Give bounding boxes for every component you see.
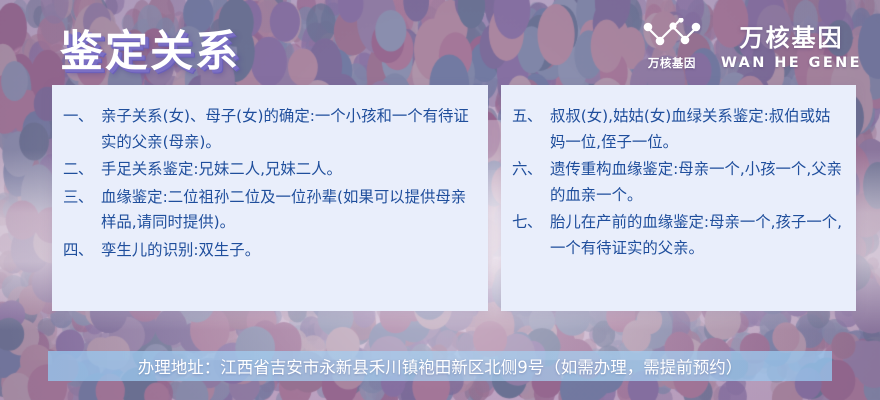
list-item-text: 亲子关系(女)、母子(女)的确定:一个小孩和一个有待证实的父亲(母亲)。 [101, 104, 477, 155]
poster-canvas: 鉴定关系 [0, 0, 880, 400]
list-item-number: 四、 [63, 238, 101, 264]
brand-name-cn: 万核基因 [739, 18, 843, 53]
list-item-number: 三、 [63, 185, 101, 236]
list-item-number: 二、 [63, 157, 101, 183]
list-item-text: 叔叔(女),姑姑(女)血绿关系鉴定:叔伯或姑妈一位,侄子一位。 [550, 104, 845, 155]
brand-text: 万核基因 WAN HE GENE [721, 18, 862, 71]
panel-right: 五、 叔叔(女),姑姑(女)血绿关系鉴定:叔伯或姑妈一位,侄子一位。 六、 遗传… [501, 85, 856, 311]
list-item: 四、 孪生儿的识别:双生子。 [63, 238, 477, 264]
address-bar: 办理地址：江西省吉安市永新县禾川镇袍田新区北侧9号（如需办理，需提前预约） [48, 351, 832, 381]
list-item-text: 遗传重构血缘鉴定:母亲一个,小孩一个,父亲的血亲一个。 [550, 157, 845, 208]
list-item-text: 孪生儿的识别:双生子。 [101, 238, 477, 264]
address-text: 办理地址：江西省吉安市永新县禾川镇袍田新区北侧9号（如需办理，需提前预约） [138, 354, 743, 378]
list-item: 三、 血缘鉴定:二位祖孙二位及一位孙辈(如果可以提供母亲样品,请同时提供)。 [63, 185, 477, 236]
page-title: 鉴定关系 [60, 17, 240, 79]
info-panels: 一、 亲子关系(女)、母子(女)的确定:一个小孩和一个有待证实的父亲(母亲)。 … [52, 85, 856, 311]
list-item-number: 七、 [512, 210, 550, 261]
brand-mark: 万核基因 [636, 19, 708, 71]
list-item: 五、 叔叔(女),姑姑(女)血绿关系鉴定:叔伯或姑妈一位,侄子一位。 [512, 104, 845, 155]
brand-mark-caption: 万核基因 [636, 55, 708, 71]
list-item-number: 五、 [512, 104, 550, 155]
panel-left: 一、 亲子关系(女)、母子(女)的确定:一个小孩和一个有待证实的父亲(母亲)。 … [52, 85, 488, 311]
list-item-text: 胎儿在产前的血缘鉴定:母亲一个,孩子一个,一个有待证实的父亲。 [550, 210, 845, 261]
list-item: 六、 遗传重构血缘鉴定:母亲一个,小孩一个,父亲的血亲一个。 [512, 157, 845, 208]
brand-name-en: WAN HE GENE [721, 55, 862, 71]
list-item-number: 一、 [63, 104, 101, 155]
list-item: 二、 手足关系鉴定:兄妹二人,兄妹二人。 [63, 157, 477, 183]
list-item-text: 手足关系鉴定:兄妹二人,兄妹二人。 [101, 157, 477, 183]
list-item-number: 六、 [512, 157, 550, 208]
list-item: 一、 亲子关系(女)、母子(女)的确定:一个小孩和一个有待证实的父亲(母亲)。 [63, 104, 477, 155]
list-item-text: 血缘鉴定:二位祖孙二位及一位孙辈(如果可以提供母亲样品,请同时提供)。 [101, 185, 477, 236]
brand-logo: 万核基因 万核基因 WAN HE GENE [636, 18, 862, 71]
molecule-icon [640, 18, 704, 58]
list-item: 七、 胎儿在产前的血缘鉴定:母亲一个,孩子一个,一个有待证实的父亲。 [512, 210, 845, 261]
poster-header: 鉴定关系 [0, 0, 880, 88]
